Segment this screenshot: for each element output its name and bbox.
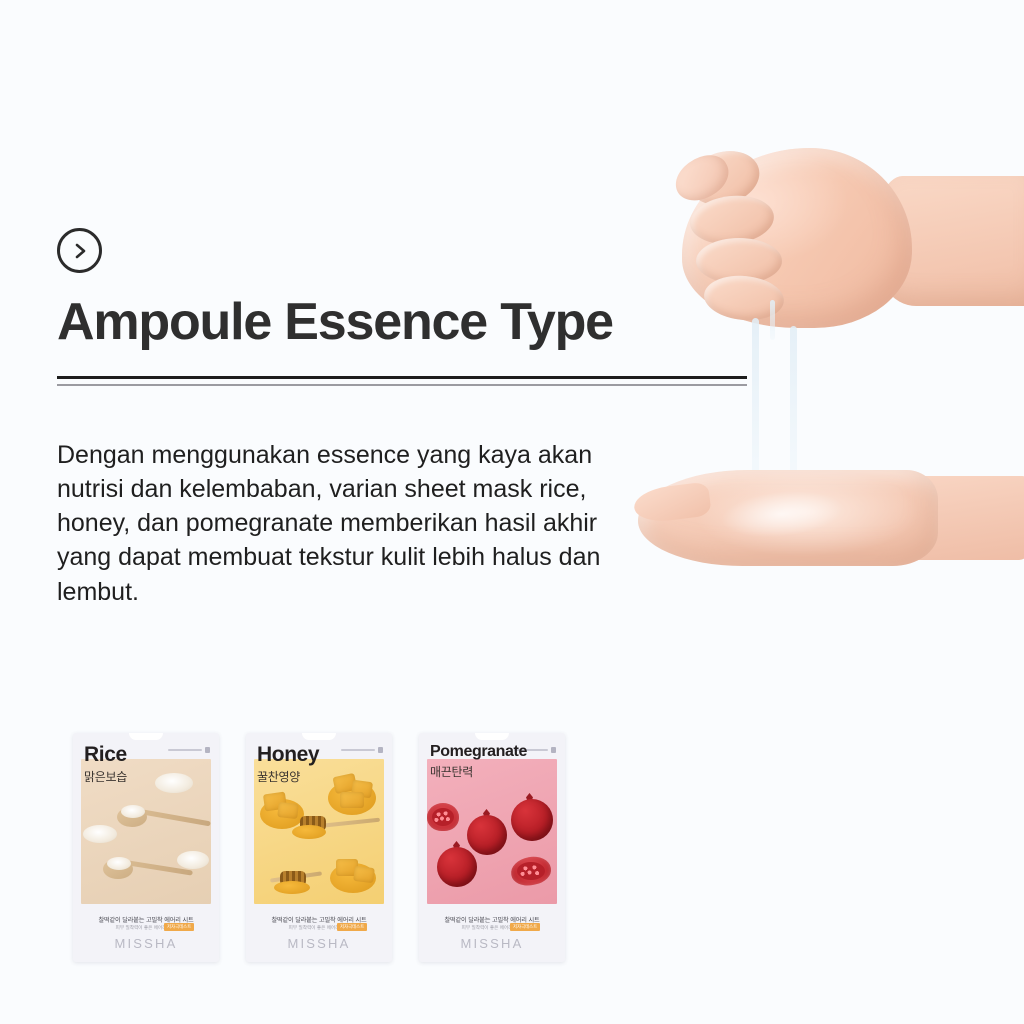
divider [57,376,747,386]
packet-top-marking [168,747,210,753]
packet-title-pomegranate: Pomegranate [430,744,527,760]
packet-tagline: 찰떡같이 달라붙는 고밀착 에어리 시트 [73,915,219,924]
packet-title-rice: Rice [84,744,127,765]
product-packet-row: Rice 맑은보습 찰떡같이 달라붙는 고밀착 에어리 시트 피부 밀착력이 좋… [73,733,565,962]
packet-subtitle-rice: 맑은보습 [84,768,127,785]
packet-subtitle-pomegranate: 매끈탄력 [430,763,473,780]
divider-thick-line [57,376,747,379]
copy-column: Ampoule Essence Type Dengan menggunakan … [57,228,697,634]
brand-logo: MISSHA [419,936,565,951]
packet-badge: 저자극테스트 [337,923,367,931]
packet-tagline: 찰떡같이 달라붙는 고밀착 에어리 시트 [419,915,565,924]
packet-badge: 저자극테스트 [164,923,194,931]
product-packet-pomegranate[interactable]: Pomegranate 매끈탄력 찰떡같이 달라붙는 고밀착 에어리 시트 피부… [419,733,565,962]
packet-tagline: 찰떡같이 달라붙는 고밀착 에어리 시트 [246,915,392,924]
page-title: Ampoule Essence Type [57,295,697,350]
packet-top-marking [341,747,383,753]
divider-thin-line [57,384,747,386]
body-paragraph: Dengan menggunakan essence yang kaya aka… [57,438,637,609]
chevron-right-circle-icon [57,228,102,273]
product-packet-honey[interactable]: Honey 꿀찬영양 찰떡같이 달라붙는 고밀착 에어리 시트 피부 밀착력이 … [246,733,392,962]
packet-art-panel-pomegranate [427,759,557,904]
packet-title-honey: Honey [257,744,319,765]
packet-subline: 피부 밀착력이 좋은 에어리 시트 [73,925,219,931]
brand-logo: MISSHA [73,936,219,951]
packet-badge: 저자극테스트 [510,923,540,931]
brand-logo: MISSHA [246,936,392,951]
product-packet-rice[interactable]: Rice 맑은보습 찰떡같이 달라붙는 고밀착 에어리 시트 피부 밀착력이 좋… [73,733,219,962]
packet-notch [129,733,163,740]
packet-notch [302,733,336,740]
packet-subline: 피부 밀착력이 좋은 에어리 시트 [419,925,565,931]
essence-drip-stream [770,300,775,340]
packet-subline: 피부 밀착력이 좋은 에어리 시트 [246,925,392,931]
essence-drip-stream [790,326,797,486]
packet-subtitle-honey: 꿀찬영양 [257,768,300,785]
packet-notch [475,733,509,740]
